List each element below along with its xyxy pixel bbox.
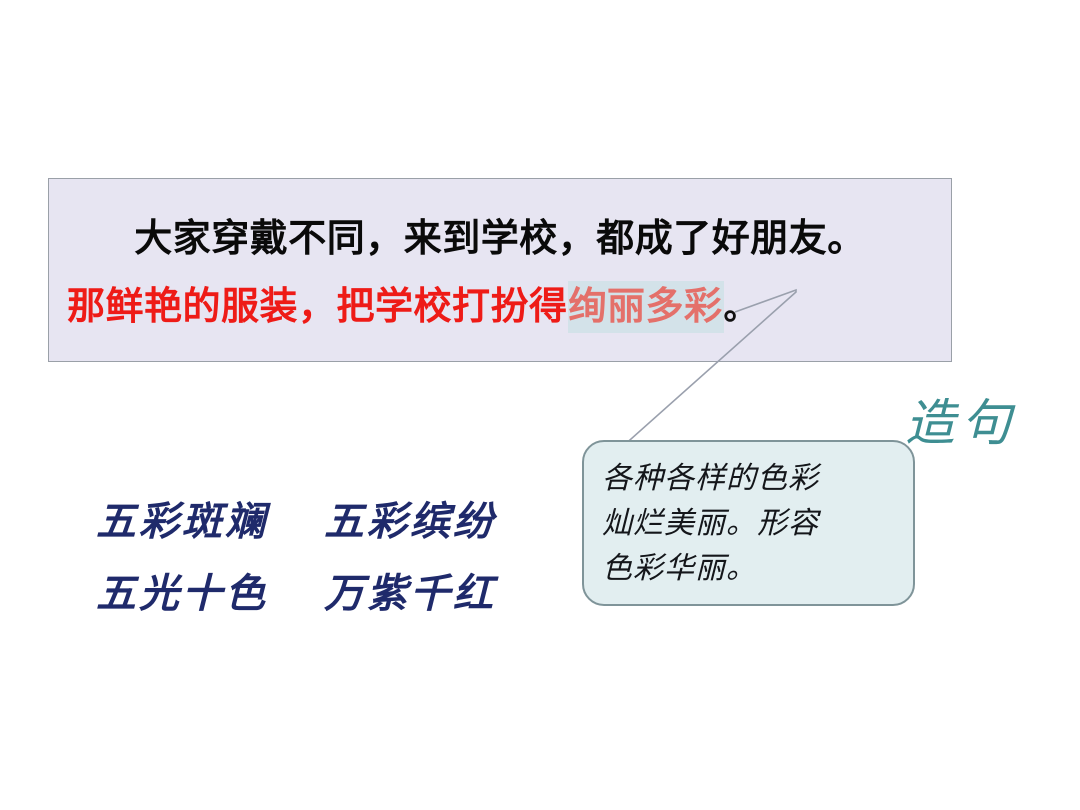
idiom-list: 五彩斑斓 五彩缤纷 五光十色 万紫千红 (96, 486, 526, 630)
idiom-item[interactable]: 五彩斑斓 (96, 496, 324, 548)
zaoju-label: 造句 (905, 392, 1017, 454)
idiom-row: 五光十色 万紫千红 (96, 558, 526, 630)
idiom-row: 五彩斑斓 五彩缤纷 (96, 486, 526, 558)
sentence-line-red: 那鲜艳的服装，把学校打扮得绚丽多彩。 (49, 283, 951, 331)
definition-callout: 各种各样的色彩 灿烂美丽。形容 色彩华丽。 (582, 440, 915, 606)
sentence-panel: 大家穿戴不同，来到学校，都成了好朋友。 那鲜艳的服装，把学校打扮得绚丽多彩。 (48, 178, 952, 362)
sentence-line-black: 大家穿戴不同，来到学校，都成了好朋友。 (49, 215, 951, 261)
sentence-red-period: 。 (724, 288, 759, 328)
highlighted-idiom-phrase[interactable]: 绚丽多彩 (568, 281, 724, 333)
idiom-item[interactable]: 万紫千红 (324, 568, 496, 620)
idiom-item[interactable]: 五光十色 (96, 568, 324, 620)
idiom-item[interactable]: 五彩缤纷 (324, 496, 496, 548)
sentence-red-prefix: 那鲜艳的服装，把学校打扮得 (67, 284, 568, 328)
definition-text: 各种各样的色彩 灿烂美丽。形容 色彩华丽。 (602, 456, 897, 591)
slide-canvas: 大家穿戴不同，来到学校，都成了好朋友。 那鲜艳的服装，把学校打扮得绚丽多彩。 造… (0, 0, 1080, 810)
